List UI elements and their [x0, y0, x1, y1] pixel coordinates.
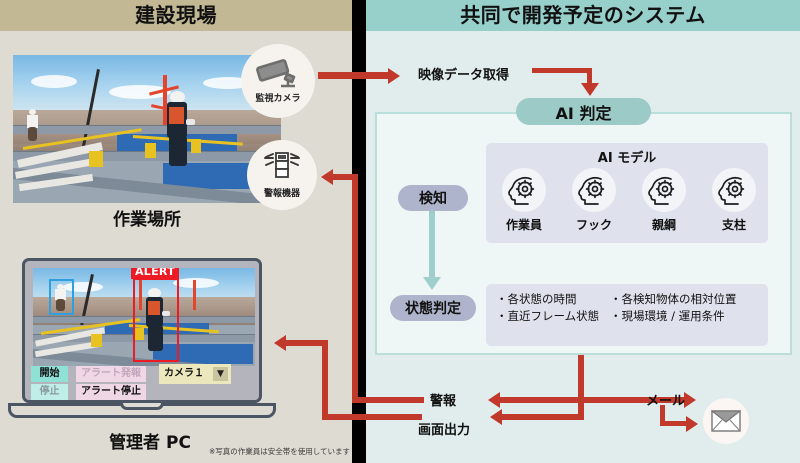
surveillance-camera-label: 監視カメラ: [255, 91, 300, 104]
warning-beacon-icon: [260, 151, 304, 185]
mail-arrow-head-right: [684, 392, 696, 408]
chevron-down-icon[interactable]: ▼: [213, 367, 228, 381]
stage-connector-head: [423, 277, 441, 290]
video-acquire-label: 映像データ取得: [418, 64, 509, 83]
ai-model-title: AI モデル: [486, 147, 768, 166]
video-acquire-shaft-v: [587, 68, 592, 84]
cctv-camera-icon: [255, 58, 301, 90]
site-caption: 作業場所: [13, 205, 281, 230]
condition-item: ・各検知物体の相対位置: [610, 291, 737, 308]
screen-output-arrow-head: [490, 409, 502, 425]
right-panel-title: 共同で開発予定のシステム: [366, 0, 800, 31]
output-trunk: [578, 355, 584, 420]
screen-feedback-arrow-head: [274, 335, 286, 351]
video-acquire-shaft-h: [532, 68, 592, 73]
video-in-arrow-head: [388, 68, 400, 84]
ai-model-item-post: 支柱: [700, 168, 768, 233]
diagram-canvas: 建設現場 共同で開発予定のシステム: [0, 0, 800, 463]
laptop-notch: [120, 403, 164, 410]
pc-video-feed: ALERT: [33, 268, 255, 366]
photo-footnote: ※写真の作業員は安全帯を使用しています: [175, 446, 350, 457]
alarm-device-badge: 警報機器: [247, 140, 317, 210]
detection-box-alert: [133, 278, 179, 362]
stop-button[interactable]: 停止: [31, 384, 68, 400]
ai-model-label: 作業員: [490, 216, 558, 233]
alert-fire-button[interactable]: アラート発報: [76, 366, 146, 382]
stage-connector-shaft: [429, 211, 435, 279]
alarm-feedback-to-badge: [332, 174, 358, 180]
ai-model-item-lifeline: 親綱: [630, 168, 698, 233]
mail-elbow-head: [686, 416, 698, 432]
alarm-label: 警報: [430, 390, 456, 409]
video-acquire-arrow-head: [581, 83, 599, 96]
surveillance-camera-badge: 監視カメラ: [241, 44, 315, 118]
ai-model-item-hook: フック: [560, 168, 628, 233]
screen-feedback-to-pc: [285, 340, 328, 346]
brain-gear-icon: [502, 168, 546, 212]
screen-feedback-v: [322, 340, 328, 420]
alarm-feedback-arrow-head: [321, 169, 333, 185]
mail-elbow-h: [660, 421, 688, 426]
ai-model-label: 親綱: [630, 216, 698, 233]
screen-output-shaft: [502, 414, 582, 420]
stage-pill-detect: 検知: [398, 185, 468, 211]
condition-column-2: ・各検知物体の相対位置 ・現場環境 / 運用条件: [610, 291, 737, 325]
condition-column-1: ・各状態の時間 ・直近フレーム状態: [496, 291, 599, 325]
alarm-feedback-v: [352, 174, 358, 403]
alert-tag: ALERT: [131, 268, 179, 279]
brain-gear-icon: [642, 168, 686, 212]
camera-select-value: カメラ１: [164, 368, 204, 379]
brain-gear-icon: [712, 168, 756, 212]
mail-label: メール: [646, 390, 685, 409]
alert-halt-button[interactable]: アラート停止: [76, 384, 146, 400]
stage-pill-state: 状態判定: [390, 295, 476, 321]
condition-item: ・現場環境 / 運用条件: [610, 308, 737, 325]
ai-model-item-worker: 作業員: [490, 168, 558, 233]
detection-box-normal: [49, 279, 74, 315]
alarm-device-label: 警報機器: [264, 186, 300, 199]
ai-model-label: フック: [560, 216, 628, 233]
alarm-feedback-h: [352, 397, 424, 403]
camera-select-dropdown[interactable]: カメラ１ ▼: [159, 364, 231, 384]
condition-item: ・各状態の時間: [496, 291, 599, 308]
screen-feedback-h: [322, 414, 422, 420]
condition-item: ・直近フレーム状態: [496, 308, 599, 325]
ai-judgement-pill: AI 判定: [516, 98, 651, 125]
video-in-arrow-shaft: [318, 72, 390, 79]
screen-output-label: 画面出力: [418, 419, 470, 438]
brain-gear-icon: [572, 168, 616, 212]
mail-badge: [703, 398, 749, 444]
alarm-arrow-head-left: [488, 392, 500, 408]
left-panel-title: 建設現場: [0, 0, 352, 31]
ai-model-label: 支柱: [700, 216, 768, 233]
start-button[interactable]: 開始: [31, 366, 68, 382]
envelope-icon: [711, 410, 741, 432]
